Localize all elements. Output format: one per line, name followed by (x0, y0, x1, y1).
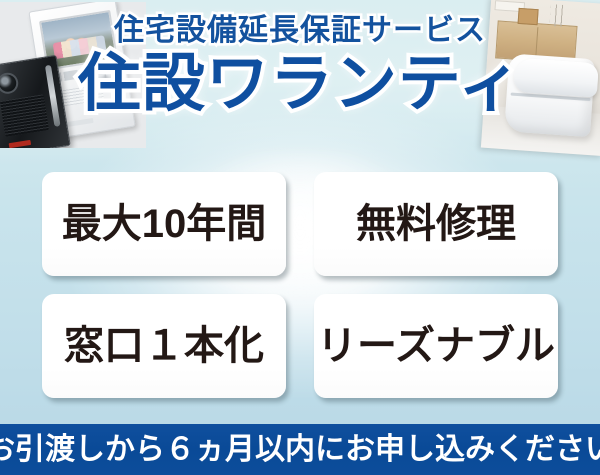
footer-notice-text: お引渡しから６ヵ月以内にお申し込みください (0, 435, 600, 465)
feature-box-free-repair[interactable]: 無料修理 (314, 172, 558, 276)
intercom-call-button (9, 140, 32, 148)
feature-label: リーズナブル (317, 326, 555, 366)
feature-grid: 最大10年間 無料修理 窓口１本化 リーズナブル (42, 172, 558, 398)
feature-box-max-years[interactable]: 最大10年間 (42, 172, 286, 276)
banner-title: 住設ワランティ (0, 53, 600, 116)
headline-block: 住宅設備延長保証サービス 住設ワランティ (0, 16, 600, 116)
banner-subtitle: 住宅設備延長保証サービス (0, 16, 600, 46)
promo-banner: 住宅設備延長保証サービス 住設ワランティ 最大10年間 無料修理 窓口１本化 リ… (0, 0, 600, 475)
feature-box-single-contact[interactable]: 窓口１本化 (42, 294, 286, 398)
feature-box-reasonable[interactable]: リーズナブル (314, 294, 558, 398)
feature-label: 窓口１本化 (64, 326, 264, 366)
feature-label: 無料修理 (356, 204, 516, 244)
feature-label: 最大10年間 (62, 204, 267, 244)
footer-notice-bar: お引渡しから６ヵ月以内にお申し込みください (0, 424, 600, 475)
